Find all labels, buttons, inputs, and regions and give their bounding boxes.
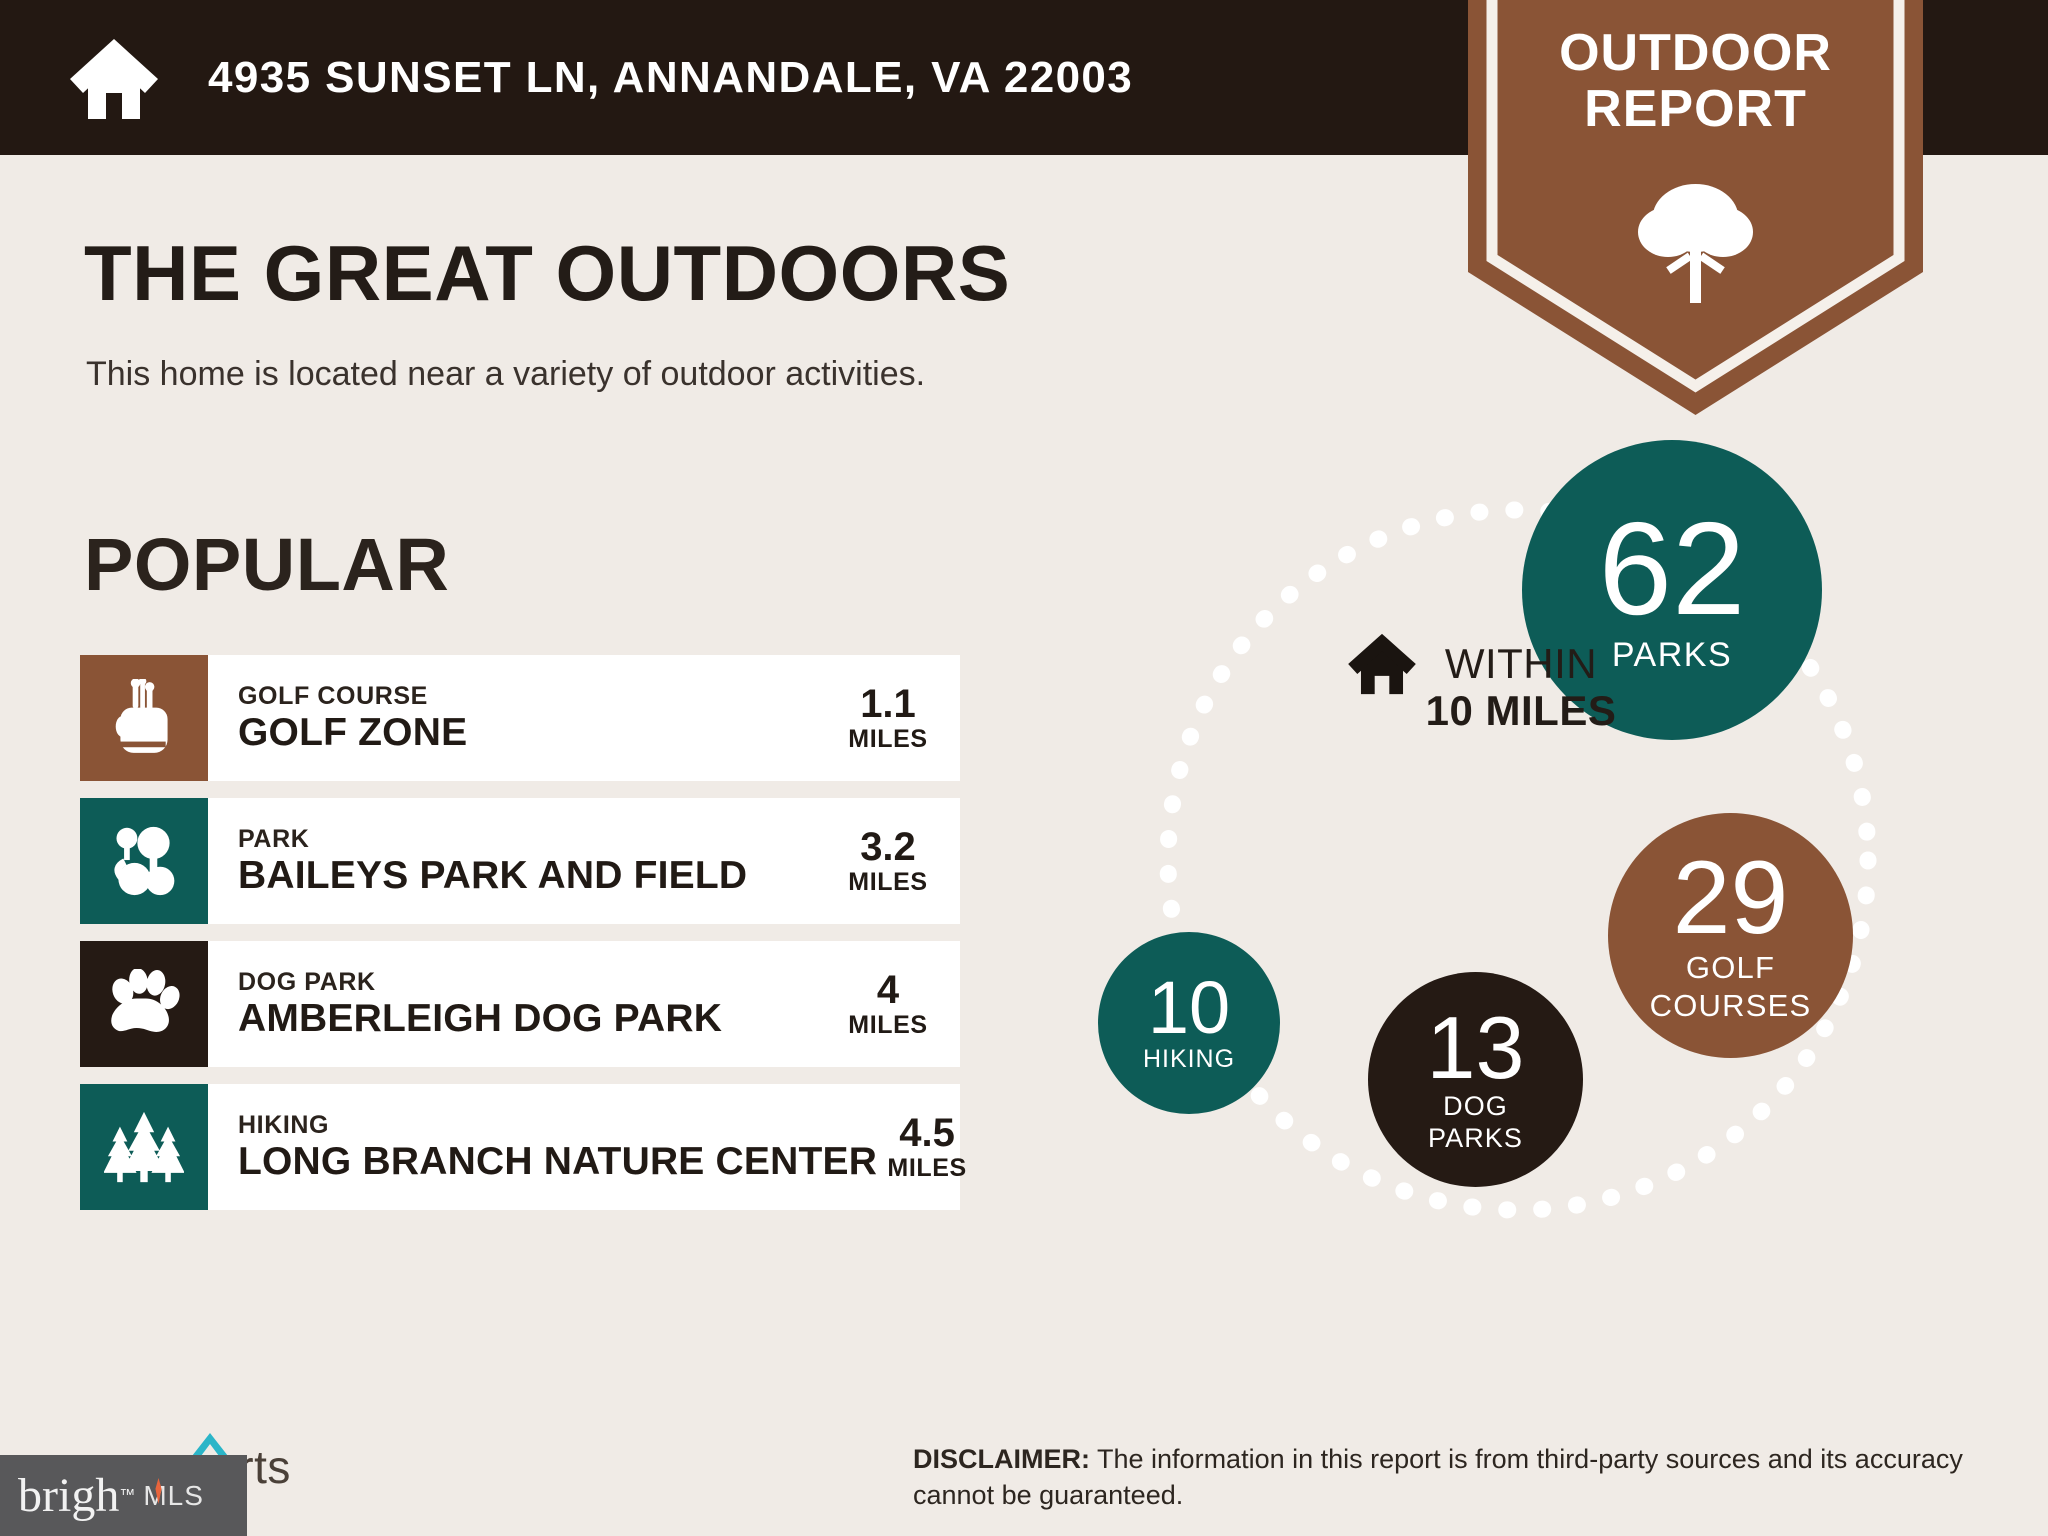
home-icon: [66, 35, 162, 121]
bubble-hiking-count: 10: [1148, 973, 1230, 1043]
list-item[interactable]: GOLF COURSE GOLF ZONE 1.1 MILES: [80, 655, 960, 781]
bubble-dog-count: 13: [1427, 1006, 1525, 1090]
disclaimer: DISCLAIMER: The information in this repo…: [913, 1441, 1983, 1514]
list-item-distance: 1.1 MILES: [838, 683, 938, 754]
bubble-dog-label-line1: DOG: [1443, 1092, 1508, 1121]
paw-print-icon: [80, 941, 208, 1067]
list-item[interactable]: PARK BAILEYS PARK AND FIELD 3.2 MILES: [80, 798, 960, 924]
bubble-hiking-label: HIKING: [1143, 1046, 1235, 1073]
distance-value: 1.1: [838, 683, 938, 725]
pine-trees-icon: [80, 1084, 208, 1210]
distance-unit: MILES: [838, 725, 938, 754]
list-item-category: PARK: [238, 824, 747, 855]
bubble-golf-label-line1: GOLF: [1686, 951, 1775, 984]
list-item-body: PARK BAILEYS PARK AND FIELD 3.2 MILES: [208, 798, 960, 924]
page-title: THE GREAT OUTDOORS: [84, 228, 1010, 319]
distance-unit: MILES: [838, 1011, 938, 1040]
list-item-category: GOLF COURSE: [238, 681, 467, 712]
bubble-hiking[interactable]: 10 HIKING: [1098, 932, 1280, 1114]
popular-heading: POPULAR: [84, 522, 449, 607]
bubble-golf-courses[interactable]: 29 GOLF COURSES: [1608, 813, 1853, 1058]
list-item-category: DOG PARK: [238, 967, 722, 998]
list-item-labels: HIKING LONG BRANCH NATURE CENTER: [238, 1110, 877, 1184]
list-item-body: GOLF COURSE GOLF ZONE 1.1 MILES: [208, 655, 960, 781]
diagram-center: WITHIN 10 MILES: [1346, 632, 1696, 734]
list-item-name: LONG BRANCH NATURE CENTER: [238, 1141, 877, 1184]
within-miles-value: 10 MILES: [1426, 687, 1617, 734]
list-item-name: AMBERLEIGH DOG PARK: [238, 998, 722, 1041]
distance-unit: MILES: [838, 868, 938, 897]
amenities-bubble-diagram: 62 PARKS 29 GOLF COURSES 13 DOG PARKS 10…: [1078, 420, 1958, 1300]
golf-bag-icon: [80, 655, 208, 781]
distance-value: 4: [838, 969, 938, 1011]
bright-mls-logo: brigh ™ MLS: [0, 1455, 247, 1536]
list-item[interactable]: HIKING LONG BRANCH NATURE CENTER 4.5 MIL…: [80, 1084, 960, 1210]
within-label: WITHIN: [1445, 640, 1597, 687]
list-item-body: HIKING LONG BRANCH NATURE CENTER 4.5 MIL…: [208, 1084, 999, 1210]
list-item[interactable]: DOG PARK AMBERLEIGH DOG PARK 4 MILES: [80, 941, 960, 1067]
bubble-golf-label-line2: COURSES: [1650, 989, 1812, 1022]
list-item-body: DOG PARK AMBERLEIGH DOG PARK 4 MILES: [208, 941, 960, 1067]
bubble-golf-count: 29: [1673, 849, 1789, 948]
badge-title: OUTDOOR REPORT: [1468, 26, 1923, 137]
page-subtitle: This home is located near a variety of o…: [86, 355, 925, 394]
list-item-distance: 4.5 MILES: [877, 1112, 977, 1183]
list-item-name: BAILEYS PARK AND FIELD: [238, 855, 747, 898]
list-item-distance: 4 MILES: [838, 969, 938, 1040]
bright-mls-wordmark: brigh: [18, 1472, 119, 1520]
mls-label: MLS: [143, 1480, 204, 1512]
popular-list: GOLF COURSE GOLF ZONE 1.1 MILES: [80, 655, 960, 1227]
list-item-distance: 3.2 MILES: [838, 826, 938, 897]
bubble-dog-parks[interactable]: 13 DOG PARKS: [1368, 972, 1583, 1187]
list-item-category: HIKING: [238, 1110, 877, 1141]
badge-line-1: OUTDOOR: [1559, 24, 1832, 82]
list-item-labels: DOG PARK AMBERLEIGH DOG PARK: [238, 967, 722, 1041]
disclaimer-label: DISCLAIMER:: [913, 1444, 1090, 1474]
distance-value: 3.2: [838, 826, 938, 868]
distance-unit: MILES: [877, 1154, 977, 1183]
bubble-dog-label-line2: PARKS: [1428, 1124, 1523, 1153]
distance-value: 4.5: [877, 1112, 977, 1154]
list-item-labels: GOLF COURSE GOLF ZONE: [238, 681, 467, 755]
park-trees-icon: [80, 798, 208, 924]
bubble-parks-count: 62: [1599, 506, 1746, 631]
trademark-icon: ™: [119, 1487, 135, 1505]
list-item-name: GOLF ZONE: [238, 712, 467, 755]
badge-line-2: REPORT: [1468, 82, 1923, 138]
list-item-labels: PARK BAILEYS PARK AND FIELD: [238, 824, 747, 898]
property-address: 4935 SUNSET LN, ANNANDALE, VA 22003: [208, 53, 1133, 103]
outdoor-report-badge: OUTDOOR REPORT: [1468, 0, 1923, 415]
